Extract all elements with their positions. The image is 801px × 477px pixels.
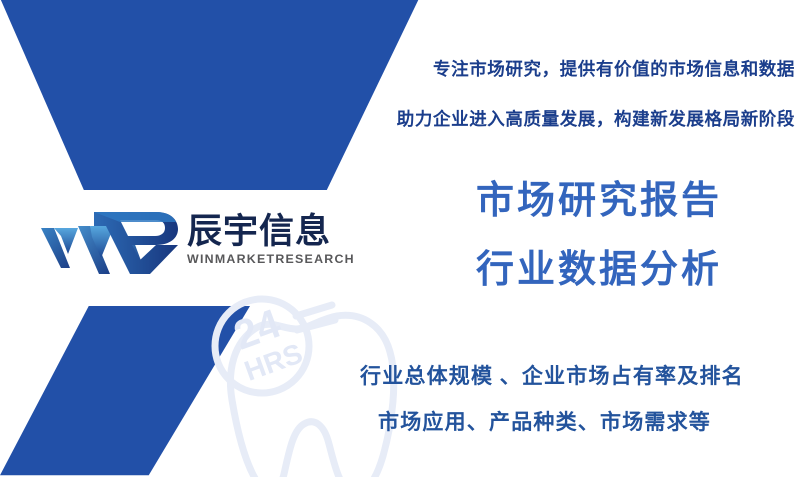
headline-line-2: 行业数据分析 [476,251,722,289]
top-parallelogram-decoration [0,0,430,190]
logo-company-name-en: WINMARKETRESEARCH [187,253,355,265]
tagline-line-2: 助力企业进入高质量发展，构建新发展格局新阶段 [397,106,795,131]
wmr-monogram-icon [28,204,178,276]
report-cover: 24 HRS [0,0,801,477]
watermark-badge-unit: HRS [240,337,306,386]
logo-company-name-cn: 辰宇信息 [187,214,355,250]
headline-line-1: 市场研究报告 [476,182,722,220]
footline-line-2: 市场应用、产品种类、市场需求等 [378,406,711,436]
logo-wordmark: 辰宇信息 WINMARKETRESEARCH [187,214,355,265]
company-logo: 辰宇信息 WINMARKETRESEARCH [28,198,378,282]
tagline-line-1: 专注市场研究，提供有价值的市场信息和数据 [433,56,795,81]
footline-line-1: 行业总体规模 、企业市场占有率及排名 [360,360,744,390]
bottom-parallelogram-decoration [0,306,250,477]
